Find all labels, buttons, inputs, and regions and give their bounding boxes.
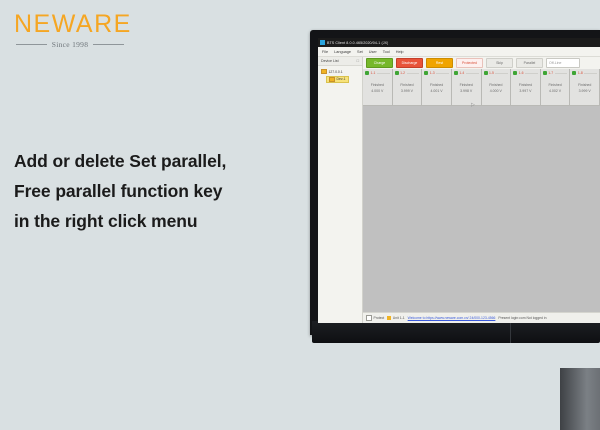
status-ok-icon	[424, 71, 428, 75]
channel-cell[interactable]: 1-8 Finished 3.999 V	[570, 69, 600, 106]
device-list-header: Device List □	[318, 57, 362, 66]
channel-value: 4.001 V	[431, 89, 443, 93]
device-icon	[321, 69, 327, 74]
channel-cell[interactable]: 1-2 Finished 3.999 V	[393, 69, 423, 106]
device-tree-child[interactable]: Dev-1	[326, 76, 349, 83]
header-rule	[407, 73, 420, 74]
header-rule	[525, 73, 538, 74]
app-icon	[320, 40, 325, 45]
channel-value: 4.000 V	[371, 89, 383, 93]
channel-header: 1-5	[482, 69, 511, 77]
cursor-pointer-icon: ▷	[471, 102, 475, 108]
menu-item-set[interactable]: Set	[357, 50, 363, 54]
status-welcome-link[interactable]: Welcome to https://www.neware.com.cn/ 24…	[408, 316, 496, 320]
skip-button[interactable]: Skip	[486, 58, 513, 68]
status-unit-chip[interactable]: Unit 1-1	[387, 316, 404, 320]
menu-item-file[interactable]: File	[322, 50, 328, 54]
header-rule	[436, 73, 449, 74]
header-rule	[377, 73, 390, 74]
device-tree-root[interactable]: 127.0.0.1	[321, 69, 360, 74]
channel-row: 1-1 Finished 4.000 V 1-2	[363, 69, 600, 106]
discharge-button[interactable]: Discharge	[396, 58, 423, 68]
action-toolbar: Charge Discharge Rest Protected Skip Par…	[363, 57, 600, 69]
pin-icon[interactable]: □	[357, 59, 359, 63]
window-title: BTS Client 8.0.0.465/2020/04-1 (JX)	[327, 41, 388, 45]
channel-id: 1-2	[400, 71, 405, 75]
channel-status: Finished	[430, 83, 443, 87]
channel-cell[interactable]: 1-3 Finished 4.001 V	[422, 69, 452, 106]
header-rule	[466, 73, 479, 74]
status-ok-icon	[513, 71, 517, 75]
status-ok-icon	[484, 71, 488, 75]
channel-cell[interactable]: 1-6 Finished 3.997 V	[511, 69, 541, 106]
star-icon	[387, 316, 391, 320]
device-root-label: 127.0.0.1	[329, 70, 343, 74]
tagline-rule-left	[16, 44, 47, 45]
main-area: Charge Discharge Rest Protected Skip Par…	[363, 57, 600, 323]
channel-id: 1-3	[430, 71, 435, 75]
headline-line-1: Add or delete Set parallel,	[14, 146, 294, 176]
status-ok-icon	[543, 71, 547, 75]
channel-header: 1-1	[363, 69, 392, 77]
unit-icon	[329, 77, 335, 82]
status-ok-icon	[454, 71, 458, 75]
channel-value: 3.997 V	[519, 89, 531, 93]
channel-value: 3.998 V	[460, 89, 472, 93]
channel-header: 1-7	[541, 69, 570, 77]
brand-tagline-row: Since 1998	[14, 40, 124, 49]
channel-header: 1-3	[422, 69, 451, 77]
menu-item-tool[interactable]: Tool	[383, 50, 390, 54]
window-body: Device List □ 127.0.0.1 Dev-1	[318, 57, 600, 323]
channel-status: Finished	[400, 83, 413, 87]
channel-value: 4.000 V	[490, 89, 502, 93]
device-list-title: Device List	[321, 59, 339, 63]
offline-field[interactable]: Off-Line	[546, 58, 580, 68]
channel-id: 1-6	[519, 71, 524, 75]
parallel-button[interactable]: Parallel	[516, 58, 543, 68]
monitor-screen: BTS Client 8.0.0.465/2020/04-1 (JX) File…	[318, 38, 600, 323]
channel-status: Finished	[548, 83, 561, 87]
brand-logo: NEWARE Since 1998	[14, 12, 124, 49]
statusbar: Protect Unit 1-1 Welcome to https://www.…	[363, 312, 600, 323]
menu-item-language[interactable]: Language	[334, 50, 351, 54]
channel-status: Finished	[371, 83, 384, 87]
channel-value: 3.999 V	[401, 89, 413, 93]
status-ok-icon	[395, 71, 399, 75]
channel-cell[interactable]: 1-5 Finished 4.000 V	[482, 69, 512, 106]
channel-status: Finished	[489, 83, 502, 87]
charge-button[interactable]: Charge	[366, 58, 393, 68]
channel-cell[interactable]: 1-7 Finished 4.002 V	[541, 69, 571, 106]
window-titlebar: BTS Client 8.0.0.465/2020/04-1 (JX)	[318, 38, 600, 47]
header-rule	[495, 73, 508, 74]
headline-line-3: in the right click menu	[14, 206, 294, 236]
device-tree[interactable]: 127.0.0.1 Dev-1	[318, 66, 362, 84]
channel-id: 1-4	[459, 71, 464, 75]
status-protect-chip[interactable]: Protect	[366, 315, 384, 321]
menubar[interactable]: File Language Set User Tool Help	[318, 47, 600, 57]
checkbox-icon[interactable]	[366, 315, 372, 321]
channel-header: 1-4	[452, 69, 481, 77]
menu-item-user[interactable]: User	[369, 50, 377, 54]
channel-id: 1-1	[371, 71, 376, 75]
channel-value: 4.002 V	[549, 89, 561, 93]
device-child-label: Dev-1	[337, 77, 346, 81]
device-tree-child-row[interactable]: Dev-1	[321, 76, 360, 83]
status-unit-label: Unit 1-1	[393, 316, 405, 320]
header-rule	[555, 73, 568, 74]
channel-status: Finished	[578, 83, 591, 87]
brand-name: NEWARE	[14, 12, 124, 37]
brand-tagline: Since 1998	[52, 40, 89, 49]
monitor-stand-column	[560, 368, 600, 430]
channel-header: 1-8	[570, 69, 599, 77]
bts-client-window: BTS Client 8.0.0.465/2020/04-1 (JX) File…	[318, 38, 600, 323]
channel-id: 1-7	[548, 71, 553, 75]
menu-item-help[interactable]: Help	[396, 50, 404, 54]
grid-empty-area: ▷	[363, 106, 600, 312]
channel-grid: 1-1 Finished 4.000 V 1-2	[363, 69, 600, 312]
channel-header: 1-6	[511, 69, 540, 77]
channel-header: 1-2	[393, 69, 422, 77]
header-rule	[584, 73, 597, 74]
monitor-stand-seam	[510, 323, 511, 343]
rest-button[interactable]: Rest	[426, 58, 453, 68]
monitor: BTS Client 8.0.0.465/2020/04-1 (JX) File…	[310, 30, 600, 335]
channel-status: Finished	[519, 83, 532, 87]
status-ok-icon	[365, 71, 369, 75]
status-ok-icon	[572, 71, 576, 75]
protected-button[interactable]: Protected	[456, 58, 483, 68]
channel-id: 1-5	[489, 71, 494, 75]
headline-text: Add or delete Set parallel, Free paralle…	[14, 146, 294, 236]
status-protect-label: Protect	[374, 316, 385, 320]
channel-cell[interactable]: 1-4 Finished 3.998 V	[452, 69, 482, 106]
tagline-rule-right	[93, 44, 124, 45]
status-login-text: Present login:com Not logged in	[498, 316, 546, 320]
promo-panel: NEWARE Since 1998 Add or delete Set para…	[0, 0, 320, 400]
device-list-sidebar: Device List □ 127.0.0.1 Dev-1	[318, 57, 363, 323]
channel-cell[interactable]: 1-1 Finished 4.000 V	[363, 69, 393, 106]
headline-line-2: Free parallel function key	[14, 176, 294, 206]
monitor-stand-bar	[312, 321, 600, 343]
channel-status: Finished	[460, 83, 473, 87]
channel-id: 1-8	[578, 71, 583, 75]
channel-value: 3.999 V	[579, 89, 591, 93]
